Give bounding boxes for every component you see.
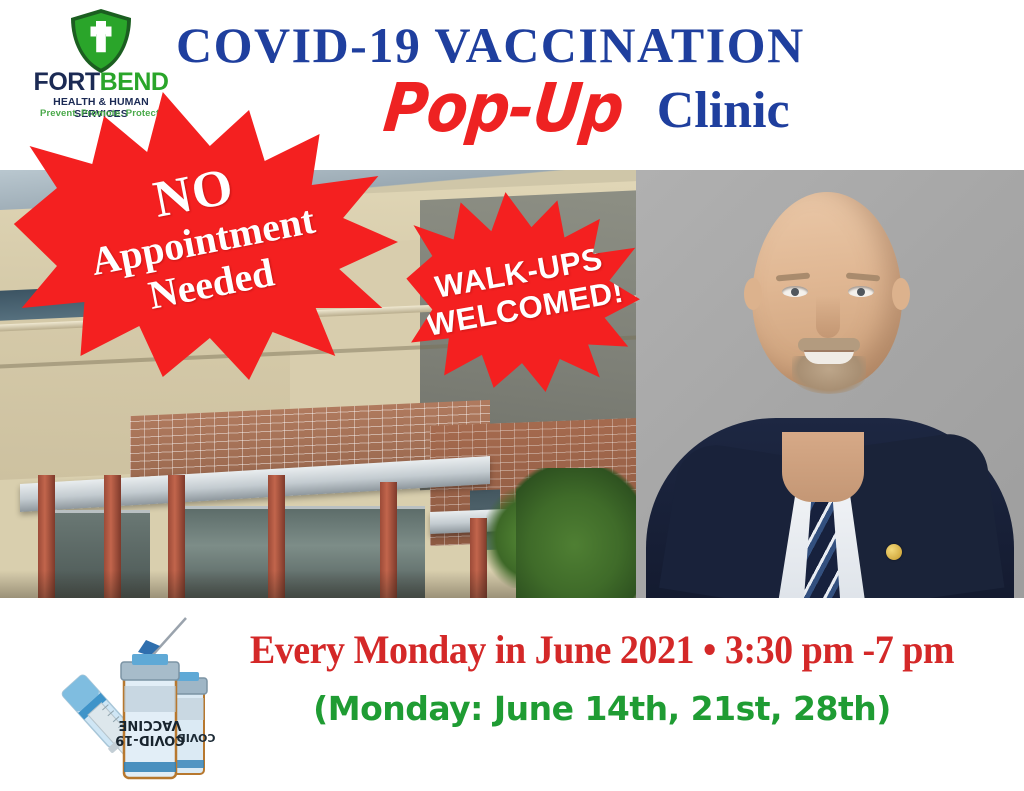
title-popup-word: Pop-Up (380, 70, 627, 148)
ear-right (892, 278, 910, 310)
flyer-title-primary: COVID-19 VACCINATION (176, 16, 976, 74)
flyer-footer: COVID-19 COVID-19 VACCINE Every Monday (0, 598, 1024, 791)
svg-text:COVID-19: COVID-19 (115, 732, 185, 747)
logo-tagline: Prevent. Promote. Protect. (26, 108, 176, 119)
schedule-block: Every Monday in June 2021 • 3:30 pm -7 p… (190, 626, 1014, 728)
gold-lapel-pin-icon (886, 544, 902, 560)
nose (816, 296, 840, 338)
title-clinic-word: Clinic (657, 81, 790, 140)
shield-cross-logo-icon (68, 8, 134, 74)
neck (782, 432, 864, 502)
svg-text:VACCINE: VACCINE (119, 717, 182, 732)
tree-foliage-front (516, 468, 636, 598)
fort-bend-health-human-services-logo: FORTBEND HEALTH & HUMAN SERVICES Prevent… (26, 8, 176, 120)
ear-left (744, 278, 762, 310)
flyer-title-secondary: Pop-UpClinic (380, 78, 1000, 148)
commissioner-portrait-photo (636, 170, 1024, 598)
schedule-dates-times: Every Monday in June 2021 • 3:30 pm -7 p… (211, 626, 994, 673)
suit-lapel-right (844, 429, 1005, 598)
logo-word-bend: BEND (100, 68, 169, 96)
pupil-left (791, 288, 799, 296)
schedule-specific-dates: (Monday: June 14th, 21st, 28th) (190, 689, 1014, 728)
covid-vaccination-popup-clinic-flyer: FORTBEND HEALTH & HUMAN SERVICES Prevent… (0, 0, 1024, 791)
logo-word-fort: FORT (34, 68, 100, 96)
smiling-mouth (804, 350, 854, 364)
logo-wordmark: FORTBEND (26, 70, 176, 95)
pupil-right (857, 288, 865, 296)
